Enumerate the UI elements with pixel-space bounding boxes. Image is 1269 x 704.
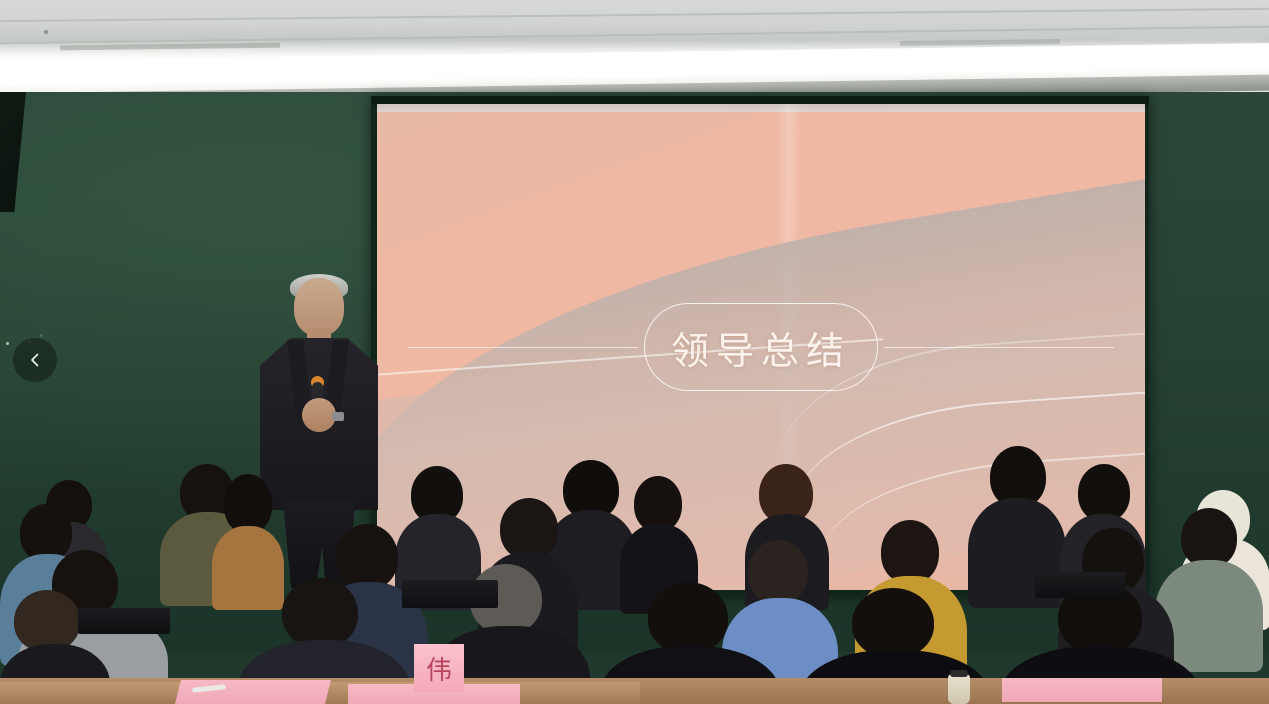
slide-rule-right	[884, 347, 1114, 348]
pink-document	[1002, 678, 1162, 702]
wall-speck	[40, 334, 43, 337]
person-head	[852, 588, 934, 658]
laptop	[78, 608, 170, 634]
ceiling-seam	[0, 26, 1269, 45]
person-head	[282, 578, 358, 648]
thermos-cap	[950, 670, 968, 677]
laptop	[1035, 572, 1125, 598]
screen-top-band	[377, 104, 1145, 112]
person-head	[500, 498, 558, 560]
prev-slide-button[interactable]	[13, 338, 57, 382]
person-head	[14, 590, 80, 652]
chevron-left-icon	[27, 352, 43, 368]
person-head	[224, 474, 272, 534]
presenter-wristwatch	[332, 412, 344, 421]
ceiling-vent	[60, 43, 280, 51]
ceiling-seam	[0, 8, 1269, 22]
presenter-hands	[302, 398, 336, 432]
slide-title: 领导总结	[671, 320, 851, 375]
audience: 伟	[0, 432, 1269, 704]
slide-title-pill: 领导总结	[644, 303, 878, 391]
thermos-bottle	[948, 674, 970, 704]
person-head	[881, 520, 939, 584]
laptop	[402, 580, 498, 608]
ceiling-vent	[900, 39, 1060, 46]
photo-stage: 领导总结	[0, 0, 1269, 704]
ceiling-fixture-dot	[44, 30, 48, 34]
name-placard: 伟	[414, 644, 464, 692]
slide-rule-left	[408, 347, 638, 348]
person-head	[1181, 508, 1237, 568]
wall-speck	[6, 342, 9, 345]
person-head	[648, 582, 728, 654]
